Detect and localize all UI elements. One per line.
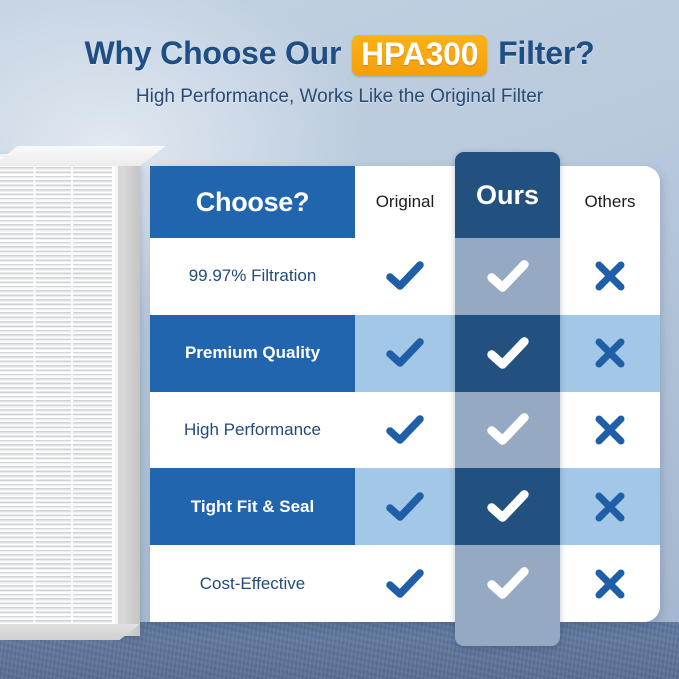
cell-original-high-performance bbox=[355, 392, 455, 469]
promotional-infographic: Why Choose Our HPA300 Filter? High Perfo… bbox=[0, 0, 679, 679]
cell-others-high-performance bbox=[560, 392, 660, 469]
cell-others-premium-quality bbox=[560, 315, 660, 392]
ours-column-header: Ours bbox=[455, 152, 560, 238]
title-text-after: Filter? bbox=[498, 35, 594, 71]
table-row: 99.97% Filtration bbox=[150, 238, 660, 315]
comparison-table: Choose? Original Others 99.97% Filtratio… bbox=[150, 166, 660, 622]
check-icon bbox=[486, 565, 530, 602]
cross-icon bbox=[593, 567, 627, 601]
cross-icon bbox=[593, 413, 627, 447]
cell-others-cost-effective bbox=[560, 545, 660, 622]
cell-ours-cost-effective bbox=[455, 545, 560, 622]
table-header-row: Choose? Original Others bbox=[150, 166, 660, 238]
check-icon bbox=[385, 259, 425, 293]
table-header-original: Original bbox=[355, 166, 455, 238]
check-icon bbox=[486, 488, 530, 525]
filter-pleats bbox=[0, 161, 112, 625]
cross-icon bbox=[593, 336, 627, 370]
check-icon bbox=[486, 335, 530, 372]
cell-ours-tight-fit-seal bbox=[455, 468, 560, 545]
table-row: Premium Quality bbox=[150, 315, 660, 392]
row-label-high-performance: High Performance bbox=[150, 392, 355, 469]
cell-ours-filtration bbox=[455, 238, 560, 315]
ours-highlight-column: Ours bbox=[455, 152, 560, 646]
cell-original-tight-fit-seal bbox=[355, 468, 455, 545]
check-icon bbox=[385, 567, 425, 601]
cell-ours-high-performance bbox=[455, 392, 560, 469]
check-icon bbox=[385, 413, 425, 447]
table-row: Tight Fit & Seal bbox=[150, 468, 660, 545]
row-label-tight-fit-seal: Tight Fit & Seal bbox=[150, 468, 355, 545]
table-header-others: Others bbox=[560, 166, 660, 238]
table-header-choose: Choose? bbox=[150, 166, 355, 238]
ours-column-header-label: Ours bbox=[476, 180, 539, 211]
check-icon bbox=[486, 258, 530, 295]
filter-bottom-edge bbox=[0, 624, 140, 640]
filter-front-face bbox=[0, 154, 118, 632]
cell-ours-premium-quality bbox=[455, 315, 560, 392]
filter-top-edge bbox=[0, 146, 166, 166]
title-text-before: Why Choose Our bbox=[85, 35, 342, 71]
row-label-filtration: 99.97% Filtration bbox=[150, 238, 355, 315]
row-label-premium-quality: Premium Quality bbox=[150, 315, 355, 392]
page-title: Why Choose Our HPA300 Filter? bbox=[0, 34, 679, 75]
title-highlight-badge: HPA300 bbox=[352, 35, 487, 76]
filter-side-panel bbox=[116, 162, 140, 636]
cell-others-filtration bbox=[560, 238, 660, 315]
cell-original-cost-effective bbox=[355, 545, 455, 622]
cell-original-filtration bbox=[355, 238, 455, 315]
cell-original-premium-quality bbox=[355, 315, 455, 392]
check-icon bbox=[385, 490, 425, 524]
cross-icon bbox=[593, 259, 627, 293]
ours-column-footer bbox=[455, 622, 560, 646]
page-subtitle: High Performance, Works Like the Origina… bbox=[0, 86, 679, 108]
table-row: High Performance bbox=[150, 392, 660, 469]
cross-icon bbox=[593, 490, 627, 524]
check-icon bbox=[385, 336, 425, 370]
table-row: Cost-Effective bbox=[150, 545, 660, 622]
row-label-cost-effective: Cost-Effective bbox=[150, 545, 355, 622]
cell-others-tight-fit-seal bbox=[560, 468, 660, 545]
check-icon bbox=[486, 411, 530, 448]
hepa-filter-image bbox=[0, 146, 150, 640]
